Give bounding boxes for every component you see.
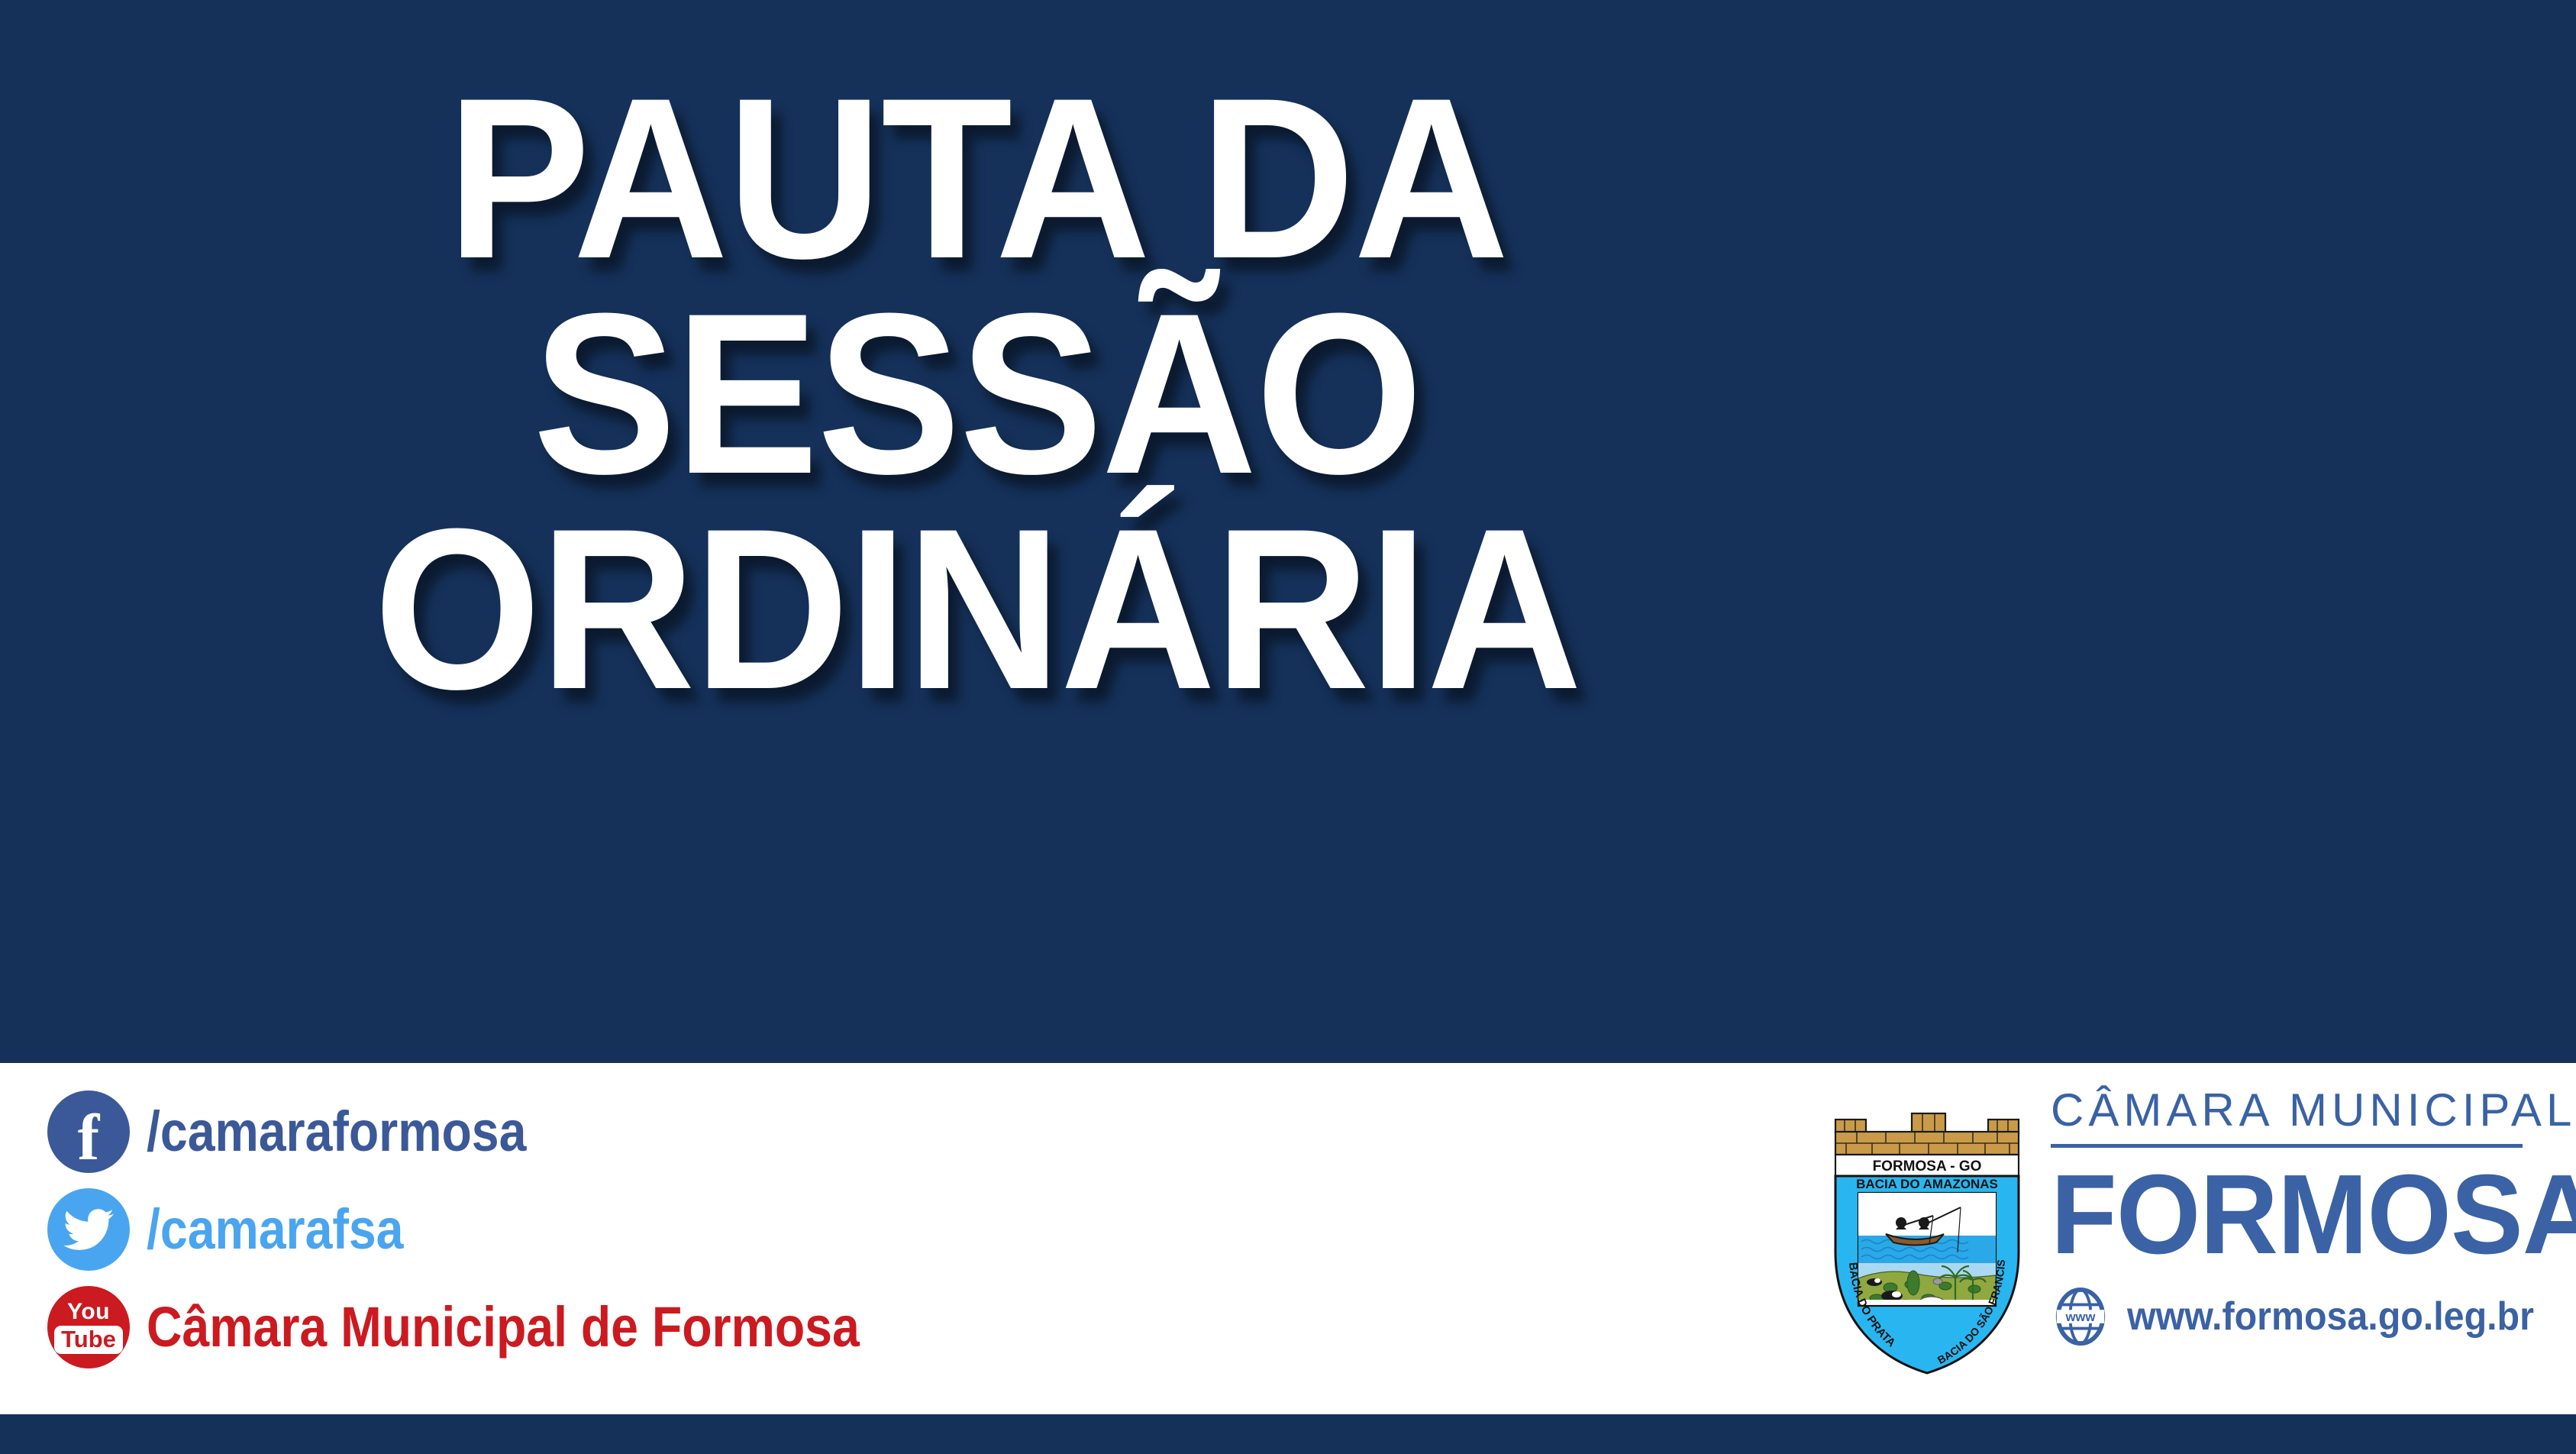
social-row-twitter[interactable]: /camarafsa (47, 1181, 1116, 1278)
logo-institution-line: CÂMARA MUNICIPAL (2051, 1087, 2539, 1133)
social-row-facebook[interactable]: f /camaraformosa (47, 1083, 1116, 1181)
hero-section: PAUTA DA SESSÃO ORDINÁRIA (0, 0, 2576, 1063)
youtube-channel-name: Câmara Municipal de Formosa (147, 1299, 860, 1355)
social-row-youtube[interactable]: You Tube Câmara Municipal de Formosa (47, 1278, 1116, 1376)
title-line-3: ORDINÁRIA (59, 501, 1896, 716)
bottom-strip (0, 1414, 2576, 1454)
title-line-1: PAUTA DA (59, 70, 1896, 286)
logo-city-name: FORMOSA (2051, 1158, 2520, 1271)
logo-website-row[interactable]: www www.formosa.go.leg.br (2051, 1287, 2539, 1346)
youtube-you-text: You (67, 1301, 110, 1323)
logo-wordmark: CÂMARA MUNICIPAL FORMOSA www www.formosa… (2051, 1087, 2539, 1346)
social-links: f /camaraformosa /camarafsa You Tube (47, 1083, 1116, 1376)
crest-scene (1858, 1193, 1996, 1313)
crest-banner-text: FORMOSA - GO (1873, 1158, 1982, 1175)
coat-of-arms-icon: FORMOSA - GO BACIA DO AMAZONAS (1831, 1103, 2023, 1375)
page-title: PAUTA DA SESSÃO ORDINÁRIA (59, 70, 1896, 716)
poster-canvas: PAUTA DA SESSÃO ORDINÁRIA f /camaraformo… (0, 0, 2576, 1454)
crest-crown (1835, 1113, 2019, 1155)
www-globe-icon: www (2051, 1287, 2110, 1346)
crest-basin-top: BACIA DO AMAZONAS (1856, 1177, 1998, 1191)
facebook-handle: /camaraformosa (147, 1103, 526, 1160)
youtube-tube-text: Tube (54, 1326, 123, 1354)
facebook-icon[interactable]: f (47, 1090, 130, 1173)
youtube-icon[interactable]: You Tube (47, 1286, 130, 1368)
twitter-bird-glyph (63, 1204, 114, 1255)
facebook-f-glyph: f (78, 1104, 100, 1170)
twitter-handle: /camarafsa (147, 1201, 403, 1258)
www-globe-label: www (2065, 1310, 2096, 1324)
title-line-2: SESSÃO (59, 286, 1896, 501)
youtube-glyph: You Tube (54, 1301, 123, 1354)
logo-website-url: www.formosa.go.leg.br (2127, 1297, 2534, 1336)
twitter-icon[interactable] (47, 1188, 130, 1271)
footer-section: f /camaraformosa /camarafsa You Tube (0, 1063, 2576, 1414)
logo-divider (2051, 1144, 2523, 1148)
camara-logo: FORMOSA - GO BACIA DO AMAZONAS (1831, 1077, 2541, 1397)
